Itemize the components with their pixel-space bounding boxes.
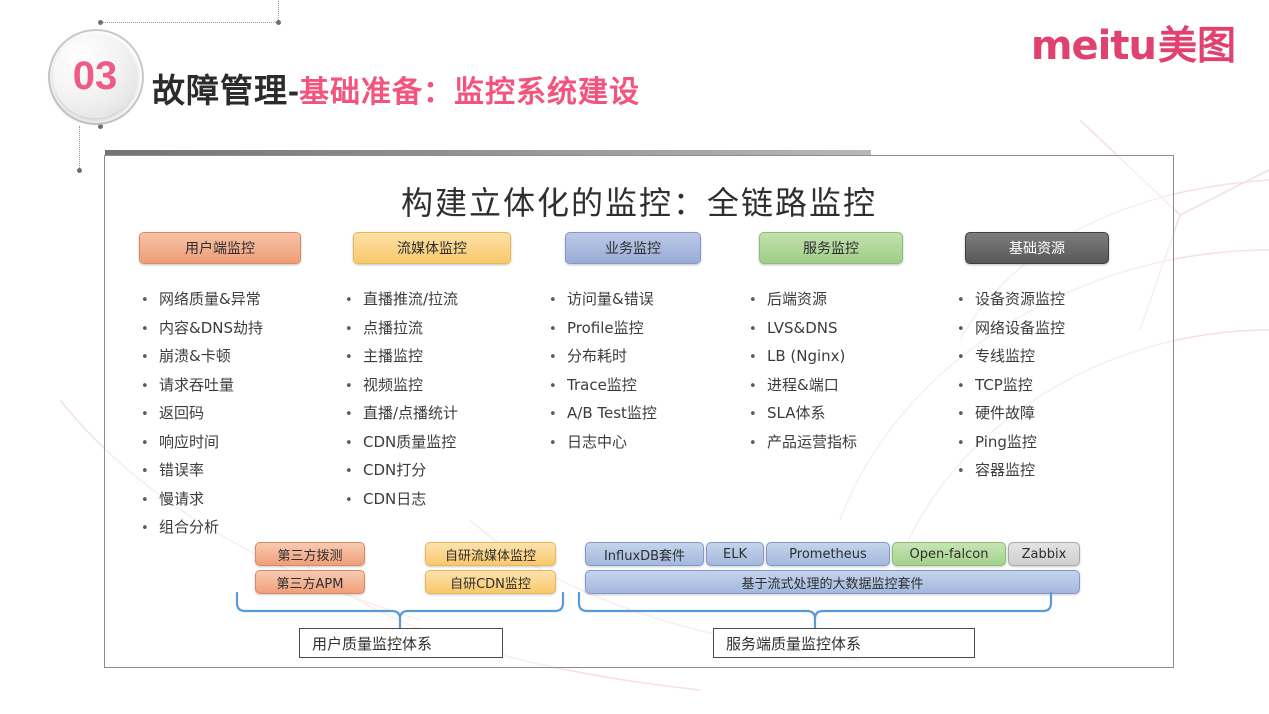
section-number-badge: 03 bbox=[48, 29, 144, 125]
list-item: •LB (Nginx) bbox=[749, 343, 945, 372]
bullet-icon: • bbox=[957, 345, 975, 372]
list-item-label: 崩溃&卡顿 bbox=[159, 343, 231, 370]
list-item: •网络设备监控 bbox=[957, 315, 1149, 344]
list-item: •主播监控 bbox=[345, 343, 537, 372]
content-card: 构建立体化的监控：全链路监控 用户端监控 •网络质量&异常 •内容&DNS劫持 … bbox=[104, 155, 1174, 668]
list-item-label: 内容&DNS劫持 bbox=[159, 315, 263, 342]
bullet-icon: • bbox=[345, 345, 363, 372]
bullet-icon: • bbox=[549, 431, 567, 458]
list-item: •设备资源监控 bbox=[957, 286, 1149, 315]
list-item: •日志中心 bbox=[549, 429, 741, 458]
list-item-label: LB (Nginx) bbox=[767, 343, 845, 370]
column-user-client: 用户端监控 •网络质量&异常 •内容&DNS劫持 •崩溃&卡顿 •请求吞吐量 •… bbox=[129, 232, 333, 559]
bullet-icon: • bbox=[141, 317, 159, 344]
column-streaming: 流媒体监控 •直播推流/拉流 •点播拉流 •主播监控 •视频监控 •直播/点播统… bbox=[333, 232, 537, 559]
bullet-icon: • bbox=[749, 431, 767, 458]
list-item-label: A/B Test监控 bbox=[567, 400, 657, 427]
list-item: •进程&端口 bbox=[749, 372, 945, 401]
bullet-icon: • bbox=[141, 345, 159, 372]
list-item-label: 直播推流/拉流 bbox=[363, 286, 458, 313]
list-item-label: LVS&DNS bbox=[767, 315, 837, 342]
tool-third-party-dial[interactable]: 第三方拨测 bbox=[255, 542, 365, 566]
list-item: •内容&DNS劫持 bbox=[141, 315, 333, 344]
column-header-service[interactable]: 服务监控 bbox=[759, 232, 903, 264]
list-item-label: 组合分析 bbox=[159, 514, 219, 541]
list-item-label: 访问量&错误 bbox=[567, 286, 654, 313]
bullet-icon: • bbox=[345, 431, 363, 458]
list-item: •崩溃&卡顿 bbox=[141, 343, 333, 372]
list-item: •视频监控 bbox=[345, 372, 537, 401]
list-item: •Trace监控 bbox=[549, 372, 741, 401]
bullet-icon: • bbox=[957, 317, 975, 344]
list-item: •分布耗时 bbox=[549, 343, 741, 372]
bullet-icon: • bbox=[957, 402, 975, 429]
column-list-business: •访问量&错误 •Profile监控 •分布耗时 •Trace监控 •A/B T… bbox=[549, 286, 741, 457]
bullet-icon: • bbox=[141, 288, 159, 315]
list-item-label: TCP监控 bbox=[975, 372, 1033, 399]
list-item: •访问量&错误 bbox=[549, 286, 741, 315]
bullet-icon: • bbox=[549, 402, 567, 429]
bullet-icon: • bbox=[345, 288, 363, 315]
list-item-label: 专线监控 bbox=[975, 343, 1035, 370]
card-accent-bar bbox=[105, 150, 871, 155]
column-business: 业务监控 •访问量&错误 •Profile监控 •分布耗时 •Trace监控 •… bbox=[537, 232, 741, 559]
bullet-icon: • bbox=[345, 374, 363, 401]
column-header-streaming[interactable]: 流媒体监控 bbox=[353, 232, 511, 264]
list-item: •A/B Test监控 bbox=[549, 400, 741, 429]
tool-elk[interactable]: ELK bbox=[706, 542, 764, 566]
list-item-label: 后端资源 bbox=[767, 286, 827, 313]
list-item-label: Profile监控 bbox=[567, 315, 644, 342]
decor-dotted-line-up bbox=[278, 0, 279, 22]
list-item: •Ping监控 bbox=[957, 429, 1149, 458]
list-item: •CDN日志 bbox=[345, 486, 537, 515]
list-item: •慢请求 bbox=[141, 486, 333, 515]
bullet-icon: • bbox=[141, 516, 159, 543]
decor-dotted-line-down bbox=[79, 126, 80, 172]
tool-bigdata-suite[interactable]: 基于流式处理的大数据监控套件 bbox=[585, 570, 1080, 594]
slide-header: 03 故障管理-基础准备：监控系统建设 meitu 美图 bbox=[0, 0, 1269, 140]
column-header-infrastructure[interactable]: 基础资源 bbox=[965, 232, 1109, 264]
list-item: •后端资源 bbox=[749, 286, 945, 315]
list-item-label: Ping监控 bbox=[975, 429, 1037, 456]
bullet-icon: • bbox=[345, 459, 363, 486]
tool-self-streaming[interactable]: 自研流媒体监控 bbox=[425, 542, 556, 566]
badge-number: 03 bbox=[73, 54, 118, 99]
list-item-label: 返回码 bbox=[159, 400, 204, 427]
list-item: •CDN打分 bbox=[345, 457, 537, 486]
column-header-business[interactable]: 业务监控 bbox=[565, 232, 701, 264]
list-item-label: 请求吞吐量 bbox=[159, 372, 234, 399]
bullet-icon: • bbox=[749, 345, 767, 372]
list-item: •网络质量&异常 bbox=[141, 286, 333, 315]
bullet-icon: • bbox=[749, 288, 767, 315]
list-item: •直播/点播统计 bbox=[345, 400, 537, 429]
column-list-streaming: •直播推流/拉流 •点播拉流 •主播监控 •视频监控 •直播/点播统计 •CDN… bbox=[345, 286, 537, 514]
list-item-label: Trace监控 bbox=[567, 372, 637, 399]
page-title-sub: 基础准备：监控系统建设 bbox=[299, 75, 640, 110]
tool-zabbix[interactable]: Zabbix bbox=[1008, 542, 1080, 566]
column-infrastructure: 基础资源 •设备资源监控 •网络设备监控 •专线监控 •TCP监控 •硬件故障 … bbox=[945, 232, 1149, 559]
bullet-icon: • bbox=[345, 488, 363, 515]
bullet-icon: • bbox=[141, 488, 159, 515]
list-item-label: SLA体系 bbox=[767, 400, 825, 427]
list-item: •硬件故障 bbox=[957, 400, 1149, 429]
list-item-label: CDN日志 bbox=[363, 486, 426, 513]
list-item-label: 响应时间 bbox=[159, 429, 219, 456]
column-list-service: •后端资源 •LVS&DNS •LB (Nginx) •进程&端口 •SLA体系… bbox=[749, 286, 945, 457]
decor-dotted-line-top bbox=[100, 22, 280, 23]
list-item-label: CDN打分 bbox=[363, 457, 426, 484]
tool-self-cdn[interactable]: 自研CDN监控 bbox=[425, 570, 556, 594]
system-label-user-quality: 用户质量监控体系 bbox=[299, 628, 503, 658]
bullet-icon: • bbox=[957, 459, 975, 486]
list-item-label: 网络设备监控 bbox=[975, 315, 1065, 342]
bullet-icon: • bbox=[549, 288, 567, 315]
list-item: •SLA体系 bbox=[749, 400, 945, 429]
list-item: •LVS&DNS bbox=[749, 315, 945, 344]
column-list-user-client: •网络质量&异常 •内容&DNS劫持 •崩溃&卡顿 •请求吞吐量 •返回码 •响… bbox=[141, 286, 333, 543]
list-item-label: 进程&端口 bbox=[767, 372, 839, 399]
list-item: •专线监控 bbox=[957, 343, 1149, 372]
list-item-label: 分布耗时 bbox=[567, 343, 627, 370]
list-item-label: 产品运营指标 bbox=[767, 429, 857, 456]
logo-wordmark: meitu bbox=[1031, 26, 1156, 66]
bullet-icon: • bbox=[749, 374, 767, 401]
tool-third-party-apm[interactable]: 第三方APM bbox=[255, 570, 365, 594]
tool-prometheus[interactable]: Prometheus bbox=[766, 542, 890, 566]
tool-open-falcon[interactable]: Open-falcon bbox=[892, 542, 1006, 566]
decor-dot-left-top bbox=[98, 20, 103, 25]
list-item: •错误率 bbox=[141, 457, 333, 486]
bullet-icon: • bbox=[549, 374, 567, 401]
list-item: •响应时间 bbox=[141, 429, 333, 458]
meitu-logo: meitu 美图 bbox=[1031, 26, 1236, 66]
card-title: 构建立体化的监控：全链路监控 bbox=[105, 178, 1173, 224]
logo-wordmark-cn: 美图 bbox=[1158, 27, 1236, 66]
bullet-icon: • bbox=[957, 288, 975, 315]
list-item: •返回码 bbox=[141, 400, 333, 429]
badge-circle: 03 bbox=[53, 34, 137, 118]
decor-dot-right-top bbox=[276, 20, 281, 25]
list-item-label: 点播拉流 bbox=[363, 315, 423, 342]
bullet-icon: • bbox=[345, 317, 363, 344]
list-item: •产品运营指标 bbox=[749, 429, 945, 458]
list-item-label: 容器监控 bbox=[975, 457, 1035, 484]
bullet-icon: • bbox=[141, 431, 159, 458]
list-item: •Profile监控 bbox=[549, 315, 741, 344]
list-item-label: 硬件故障 bbox=[975, 400, 1035, 427]
bullet-icon: • bbox=[957, 431, 975, 458]
list-item-label: 网络质量&异常 bbox=[159, 286, 261, 313]
list-item-label: 日志中心 bbox=[567, 429, 627, 456]
bullet-icon: • bbox=[141, 402, 159, 429]
page-title-dash: - bbox=[288, 72, 299, 109]
list-item-label: 视频监控 bbox=[363, 372, 423, 399]
list-item: •直播推流/拉流 bbox=[345, 286, 537, 315]
list-item-label: 错误率 bbox=[159, 457, 204, 484]
bullet-icon: • bbox=[549, 345, 567, 372]
tool-influxdb[interactable]: InfluxDB套件 bbox=[585, 542, 704, 566]
list-item-label: CDN质量监控 bbox=[363, 429, 456, 456]
list-item: •组合分析 bbox=[141, 514, 333, 543]
decor-dot-bottom-end bbox=[77, 168, 82, 173]
bullet-icon: • bbox=[141, 459, 159, 486]
column-list-infrastructure: •设备资源监控 •网络设备监控 •专线监控 •TCP监控 •硬件故障 •Ping… bbox=[957, 286, 1149, 486]
list-item: •容器监控 bbox=[957, 457, 1149, 486]
list-item-label: 主播监控 bbox=[363, 343, 423, 370]
list-item: •CDN质量监控 bbox=[345, 429, 537, 458]
list-item: •请求吞吐量 bbox=[141, 372, 333, 401]
bullet-icon: • bbox=[345, 402, 363, 429]
bullet-icon: • bbox=[749, 402, 767, 429]
system-label-server-quality: 服务端质量监控体系 bbox=[713, 628, 975, 658]
bullet-icon: • bbox=[749, 317, 767, 344]
list-item-label: 直播/点播统计 bbox=[363, 400, 458, 427]
list-item: •TCP监控 bbox=[957, 372, 1149, 401]
bullet-icon: • bbox=[141, 374, 159, 401]
list-item-label: 设备资源监控 bbox=[975, 286, 1065, 313]
page-title: 故障管理-基础准备：监控系统建设 bbox=[152, 64, 640, 112]
bullet-icon: • bbox=[549, 317, 567, 344]
monitoring-columns: 用户端监控 •网络质量&异常 •内容&DNS劫持 •崩溃&卡顿 •请求吞吐量 •… bbox=[129, 232, 1149, 559]
column-header-user-client[interactable]: 用户端监控 bbox=[139, 232, 301, 264]
list-item: •点播拉流 bbox=[345, 315, 537, 344]
list-item-label: 慢请求 bbox=[159, 486, 204, 513]
column-service: 服务监控 •后端资源 •LVS&DNS •LB (Nginx) •进程&端口 •… bbox=[741, 232, 945, 559]
page-title-main: 故障管理 bbox=[152, 71, 288, 110]
bullet-icon: • bbox=[957, 374, 975, 401]
